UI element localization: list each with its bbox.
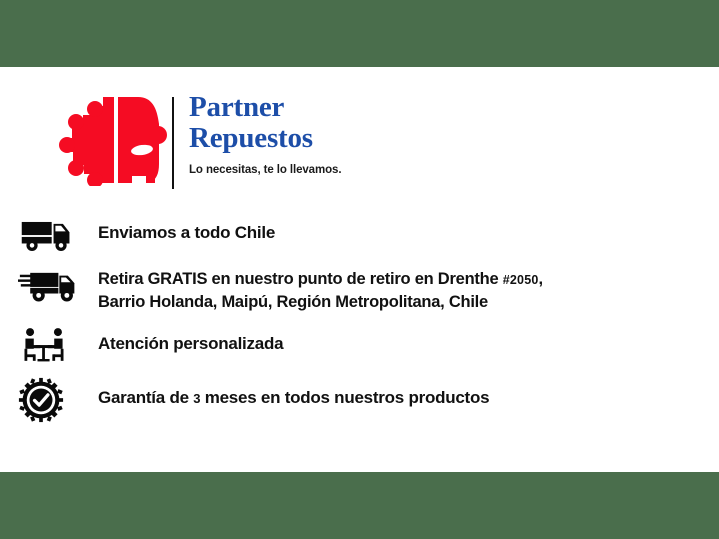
promo-banner: Partner Repuestos Lo necesitas, te lo ll… [0,0,719,539]
brand-header: Partner Repuestos Lo necesitas, te lo ll… [58,92,578,194]
feature-row-support: Atención personalizada [0,320,719,374]
top-green-band [0,0,719,67]
feature-row-warranty: Garantía de 3 meses en todos nuestros pr… [0,374,719,428]
moving-truck-icon [18,264,80,308]
guarantee-badge-check-icon [18,378,80,422]
pickup-text-part-2: , [539,270,543,288]
feature-text-warranty: Garantía de 3 meses en todos nuestros pr… [80,387,489,410]
gear-car-logo-icon [58,94,168,186]
pickup-text-part-1: Retira GRATIS en nuestro punto de retiro… [98,270,503,288]
feature-row-shipping: Enviamos a todo Chile [0,206,719,258]
brand-name-line-2: Repuestos [189,123,569,154]
feature-list: Enviamos a todo Chile [0,206,719,428]
feature-text-support: Atención personalizada [80,333,283,355]
feature-text-shipping: Enviamos a todo Chile [80,222,275,244]
pickup-address-number: #2050 [503,273,539,287]
pickup-text-line-2: Barrio Holanda, Maipú, Región Metropolit… [98,293,488,311]
logo-divider [172,97,174,189]
people-at-table-icon [18,324,80,368]
brand-tagline: Lo necesitas, te lo llevamos. [189,163,569,177]
feature-text-pickup: Retira GRATIS en nuestro punto de retiro… [80,268,543,313]
bottom-green-band [0,472,719,539]
feature-row-pickup: Retira GRATIS en nuestro punto de retiro… [0,258,719,320]
delivery-truck-icon [18,214,80,258]
brand-text: Partner Repuestos Lo necesitas, te lo ll… [189,92,569,177]
warranty-text-part-1: Garantía de [98,388,193,407]
brand-name-line-1: Partner [189,92,569,123]
warranty-text-part-2: meses en todos nuestros productos [200,388,489,407]
